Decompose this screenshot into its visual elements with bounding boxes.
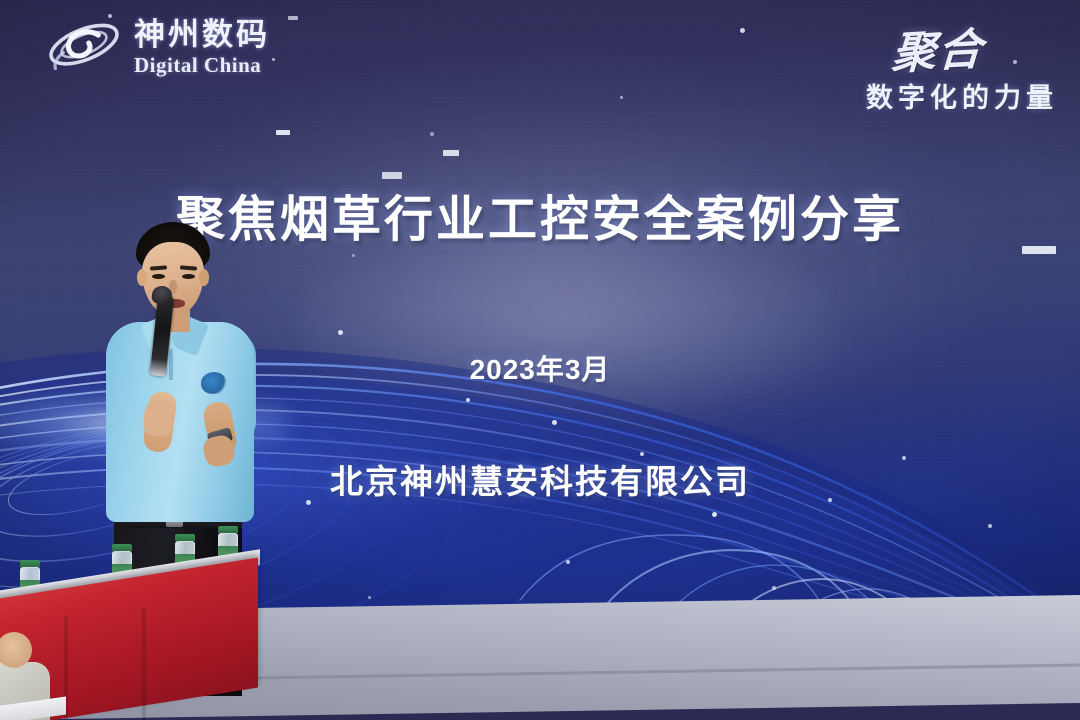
event-calligraphy: 聚合 [864, 13, 986, 83]
bottle-cap [218, 526, 238, 533]
seated-attendee [0, 628, 60, 720]
digital-china-logo: 神州数码 Digital China [44, 16, 270, 78]
bottle-cap [20, 560, 40, 567]
conference-stage-photo: 神州数码 Digital China 聚合 数字化的力量 聚焦烟草行业工控安全案… [0, 0, 1080, 720]
speaker-ear-left [137, 269, 147, 286]
bottle-cap [112, 544, 132, 551]
logo-english-name: Digital China [134, 55, 270, 76]
digital-china-swirl-icon [44, 16, 124, 78]
logo-chinese-name: 神州数码 [134, 19, 270, 50]
speaker-left-hand [142, 399, 175, 437]
event-theme-logo: 聚合 数字化的力量 [866, 16, 1058, 115]
speaker-shirt-logo [201, 372, 227, 394]
speaker-eye-left [152, 274, 165, 279]
bottle-cap [175, 534, 195, 541]
event-subtitle: 数字化的力量 [866, 76, 1058, 115]
speaker-ear-right [199, 269, 209, 286]
tablecloth-fold [142, 608, 146, 720]
speaker-eye-right [182, 274, 195, 279]
